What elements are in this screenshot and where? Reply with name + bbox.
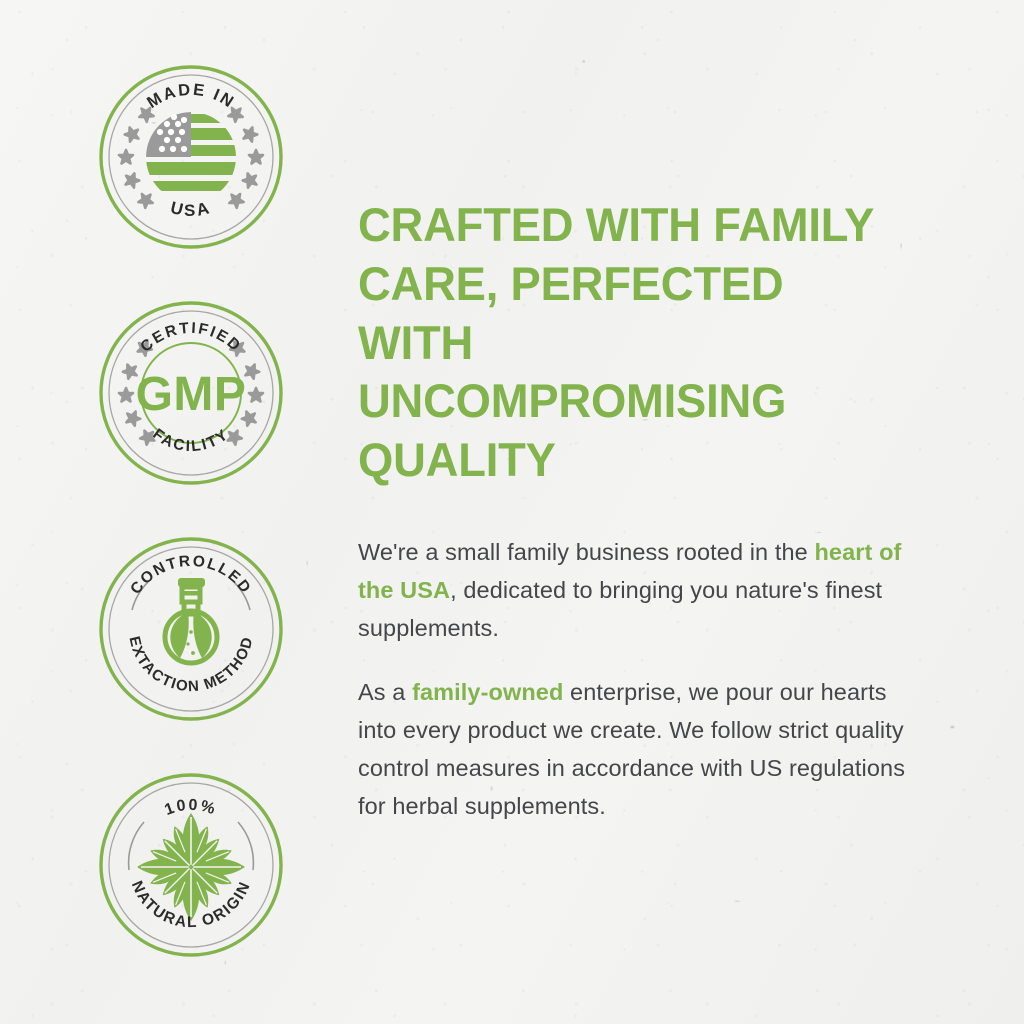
copy-column: CRAFTED WITH FAMILY CARE, PERFECTED WITH… [358,196,918,825]
paragraph-1-part-1: We're a small family business rooted in … [358,539,814,565]
decorative-arc-right [238,822,253,870]
badge-bottom-label: FACILITY [149,426,232,456]
paragraph-1: We're a small family business rooted in … [358,533,918,647]
badge-natural-origin: 100% NATURAL ORIGIN [96,770,286,960]
body-copy: We're a small family business rooted in … [358,533,918,825]
certification-badge-column: MADE IN USA [96,62,288,1006]
decorative-arc-left [129,822,144,870]
flask-leaf-icon [165,578,217,663]
paragraph-2-highlight: family-owned [412,679,563,705]
badge-controlled-extraction: CONTROLLED EXTACTION METHOD [96,534,286,724]
paragraph-2: As a family-owned enterprise, we pour ou… [358,673,918,825]
badge-gmp-certified: GMP CERTIFIED FACILITY [96,298,286,488]
usa-flag-circle-icon [140,112,243,191]
promo-panel: MADE IN USA [0,0,1024,1024]
badge-top-label: MADE IN [144,81,238,112]
page-title: CRAFTED WITH FAMILY CARE, PERFECTED WITH… [358,196,898,490]
badge-bottom-label: USA [169,198,214,220]
paragraph-2-part-1: As a [358,679,412,705]
badge-made-in-usa: MADE IN USA [96,62,286,252]
gmp-center-label: GMP [136,368,247,421]
badge-top-label: CERTIFIED [137,320,244,356]
